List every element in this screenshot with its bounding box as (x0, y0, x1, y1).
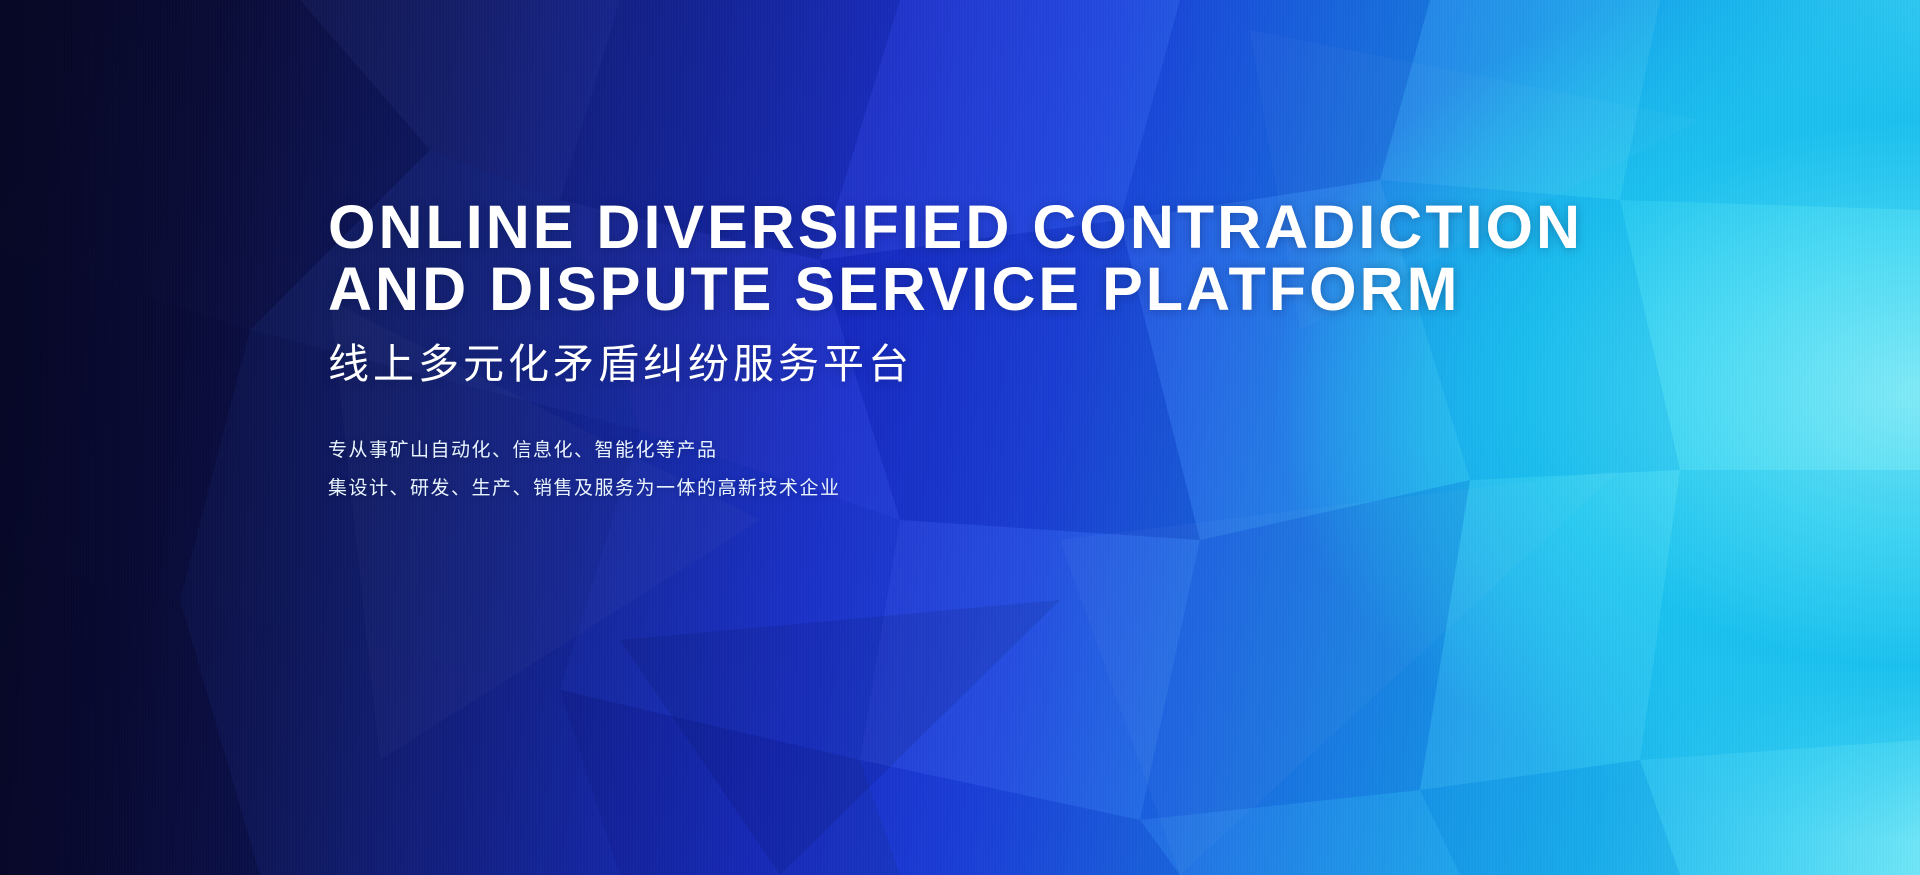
page-subtitle: 线上多元化矛盾纠纷服务平台 (328, 338, 1578, 390)
description-text: 专从事矿山自动化、信息化、智能化等产品 集设计、研发、生产、销售及服务为一体的高… (328, 432, 1578, 508)
page-title: ONLINE DIVERSIFIED CONTRADICTION AND DIS… (328, 196, 1578, 320)
headline-line-2: AND DISPUTE SERVICE PLATFORM (328, 258, 1578, 320)
description-line-1: 专从事矿山自动化、信息化、智能化等产品 (328, 432, 1578, 470)
description-line-2: 集设计、研发、生产、销售及服务为一体的高新技术企业 (328, 470, 1578, 508)
headline-line-1: ONLINE DIVERSIFIED CONTRADICTION (328, 196, 1578, 258)
hero-banner: ONLINE DIVERSIFIED CONTRADICTION AND DIS… (0, 0, 1920, 875)
hero-content: ONLINE DIVERSIFIED CONTRADICTION AND DIS… (328, 196, 1578, 508)
